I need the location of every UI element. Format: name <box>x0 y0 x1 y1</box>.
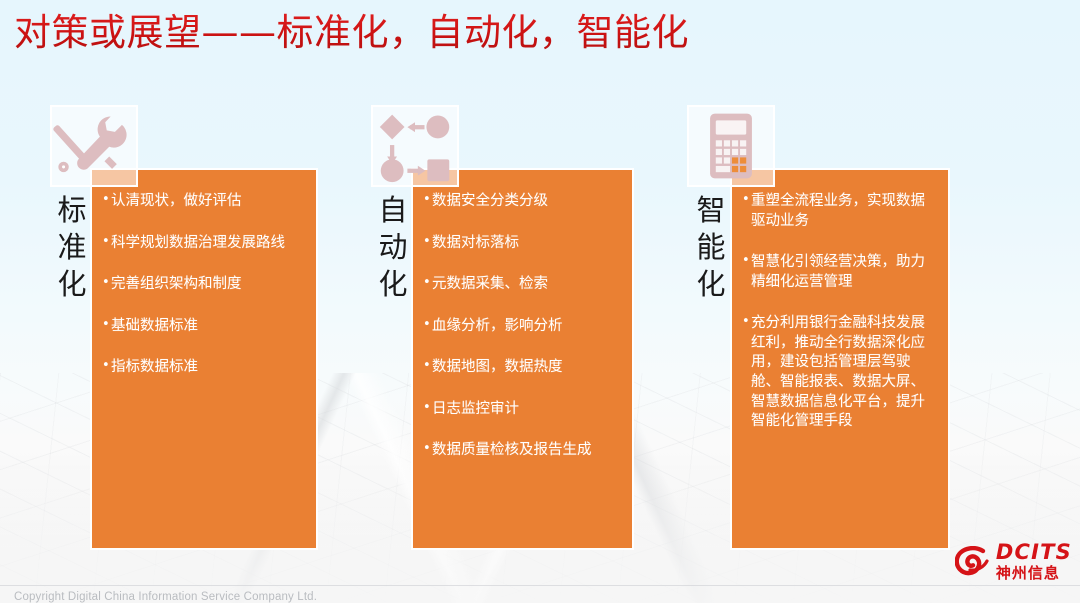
calculator-icon <box>689 107 773 185</box>
flowchart-icon <box>373 107 457 185</box>
column-label-intelligence: 智能化 <box>694 192 728 303</box>
intelligence-panel: 重塑全流程业务，实现数据驱动业务 智慧化引领经营决策，助力精细化运营管理 充分利… <box>730 168 950 550</box>
dcits-latin-name: DCITS <box>996 542 1072 563</box>
automation-panel: 数据安全分类分级 数据对标落标 元数据采集、检索 血缘分析，影响分析 数据地图，… <box>411 168 634 550</box>
list-item: 完善组织架构和制度 <box>102 275 302 295</box>
standardization-bullets: 认清现状，做好评估 科学规划数据治理发展路线 完善组织架构和制度 基础数据标准 … <box>92 170 316 388</box>
flowchart-icon-box <box>371 105 459 187</box>
list-item: 指标数据标准 <box>102 358 302 378</box>
list-item: 数据质量检核及报告生成 <box>423 441 618 461</box>
intelligence-bullets: 重塑全流程业务，实现数据驱动业务 智慧化引领经营决策，助力精细化运营管理 充分利… <box>732 170 948 442</box>
list-item: 智慧化引领经营决策，助力精细化运营管理 <box>742 253 934 292</box>
slide-canvas: 对策或展望——标准化，自动化，智能化 认清现状，做好评估 科学规划数据治理发展路… <box>0 0 1080 603</box>
list-item: 基础数据标准 <box>102 317 302 337</box>
list-item: 血缘分析，影响分析 <box>423 317 618 337</box>
dcits-chinese-name: 神州信息 <box>996 566 1072 581</box>
dcits-swirl-icon <box>955 546 989 578</box>
list-item: 数据地图，数据热度 <box>423 358 618 378</box>
column-label-standardization: 标准化 <box>55 192 89 303</box>
dcits-wordmark: DCITS 神州信息 <box>996 542 1072 581</box>
standardization-panel: 认清现状，做好评估 科学规划数据治理发展路线 完善组织架构和制度 基础数据标准 … <box>90 168 318 550</box>
list-item: 科学规划数据治理发展路线 <box>102 234 302 254</box>
page-title: 对策或展望——标准化，自动化，智能化 <box>14 8 689 58</box>
wrench-screwdriver-icon-box <box>50 105 138 187</box>
copyright-text: Copyright Digital China Information Serv… <box>14 591 317 603</box>
list-item: 数据安全分类分级 <box>423 192 618 212</box>
list-item: 充分利用银行金融科技发展红利，推动全行数据深化应用，建设包括管理层驾驶舱、智能报… <box>742 314 934 431</box>
calculator-icon-box <box>687 105 775 187</box>
list-item: 数据对标落标 <box>423 234 618 254</box>
automation-bullets: 数据安全分类分级 数据对标落标 元数据采集、检索 血缘分析，影响分析 数据地图，… <box>413 170 632 471</box>
list-item: 元数据采集、检索 <box>423 275 618 295</box>
dcits-logo: DCITS 神州信息 <box>955 542 1072 581</box>
list-item: 认清现状，做好评估 <box>102 192 302 212</box>
column-label-automation: 自动化 <box>376 192 410 303</box>
list-item: 日志监控审计 <box>423 400 618 420</box>
wrench-screwdriver-icon <box>52 107 136 185</box>
list-item: 重塑全流程业务，实现数据驱动业务 <box>742 192 934 231</box>
footer-divider <box>0 585 1080 586</box>
